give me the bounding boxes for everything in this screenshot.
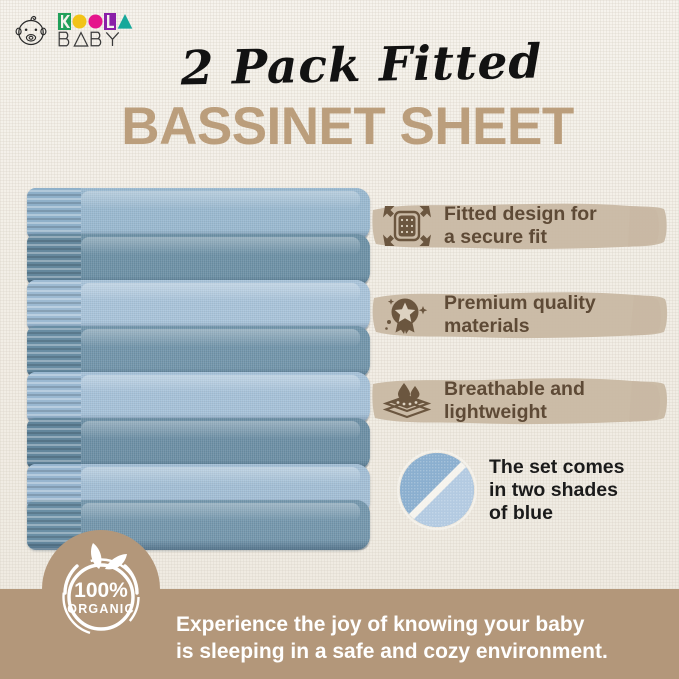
banner-tagline-line1: Experience the joy of knowing your baby bbox=[176, 611, 667, 638]
two-shades-label: The set comes in two shades of blue bbox=[489, 456, 624, 525]
feature-label-line2: materials bbox=[444, 315, 596, 338]
two-shades-line2: in two shades bbox=[489, 479, 624, 502]
feature-label: Premium quality materials bbox=[444, 292, 596, 338]
folded-sheet bbox=[27, 234, 370, 286]
logo-letter-o-2 bbox=[88, 13, 103, 30]
product-infographic: 2 Pack Fitted BASSINET SHEET bbox=[0, 0, 679, 679]
script-title: 2 Pack Fitted bbox=[22, 31, 679, 99]
folded-sheet bbox=[27, 326, 370, 378]
logo-letter-o-1 bbox=[72, 13, 87, 30]
logo-letter-k bbox=[58, 13, 71, 30]
feature-breathable-lightweight: Breathable and lightweight bbox=[372, 372, 672, 430]
feature-label-line2: a secure fit bbox=[444, 226, 597, 249]
folded-sheet bbox=[27, 418, 370, 470]
two-shades-line3: of blue bbox=[489, 502, 624, 525]
brand-name-koola bbox=[58, 13, 133, 30]
feature-label: Breathable and lightweight bbox=[444, 378, 585, 424]
folded-sheet bbox=[27, 280, 370, 332]
breathable-layers-icon bbox=[382, 376, 432, 426]
feature-label: Fitted design for a secure fit bbox=[444, 203, 597, 249]
feature-label-line1: Fitted design for bbox=[444, 203, 597, 226]
fitted-sheet-corners-icon bbox=[382, 201, 432, 251]
banner-tagline: Experience the joy of knowing your baby … bbox=[176, 611, 667, 665]
two-shades-note: The set comes in two shades of blue bbox=[399, 452, 624, 528]
organic-label: ORGANIC bbox=[67, 602, 134, 616]
folded-sheet bbox=[27, 188, 370, 240]
feature-label-line2: lightweight bbox=[444, 401, 585, 424]
feature-label-line1: Breathable and bbox=[444, 378, 585, 401]
banner-tagline-line2: is sleeping in a safe and cozy environme… bbox=[176, 638, 667, 665]
product-image-sheet-stack bbox=[27, 188, 370, 550]
two-shades-line1: The set comes bbox=[489, 456, 624, 479]
two-tone-color-swatch-icon bbox=[399, 452, 475, 528]
feature-premium-quality: Premium quality materials bbox=[372, 286, 672, 344]
logo-letter-l bbox=[104, 13, 116, 30]
folded-sheet bbox=[27, 372, 370, 424]
page-title: BASSINET SHEET bbox=[8, 96, 679, 157]
logo-letter-a bbox=[117, 13, 133, 30]
quality-star-badge-icon bbox=[382, 290, 432, 340]
feature-label-line1: Premium quality bbox=[444, 292, 596, 315]
feature-fitted-design: Fitted design for a secure fit bbox=[372, 197, 672, 255]
organic-leaf-badge-icon: 100% ORGANIC bbox=[47, 535, 155, 643]
organic-percent: 100% bbox=[74, 579, 128, 602]
